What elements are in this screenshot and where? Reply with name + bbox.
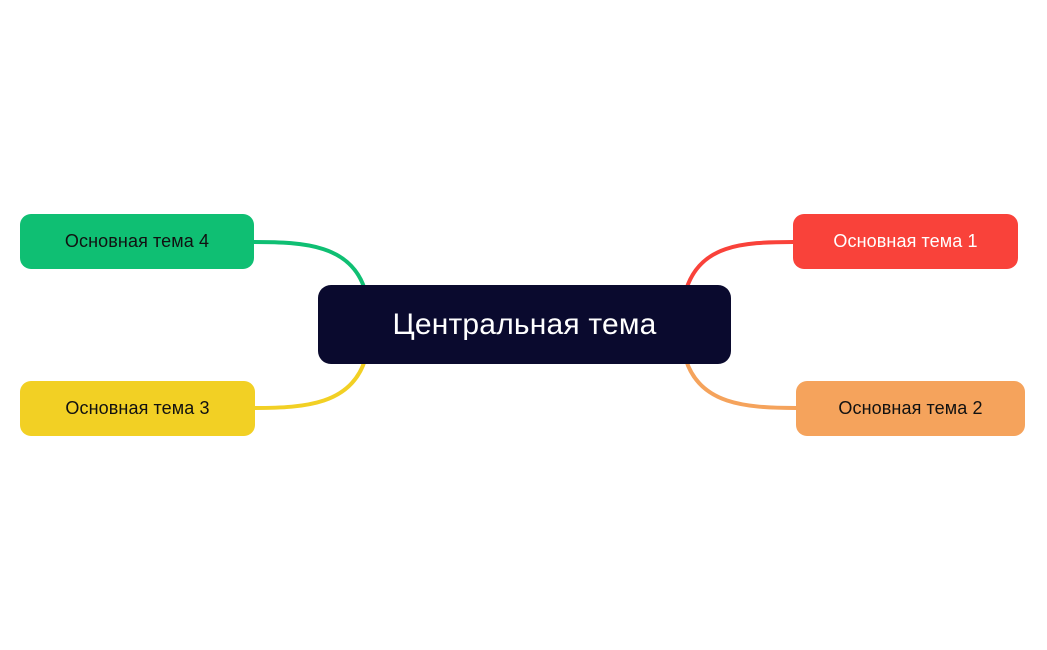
central-topic-node[interactable]: Центральная тема bbox=[318, 285, 731, 364]
branch-topic-label-1: Основная тема 1 bbox=[833, 232, 977, 252]
branch-topic-node-3[interactable]: Основная тема 3 bbox=[20, 381, 255, 436]
connector-branch-4 bbox=[254, 242, 365, 290]
branch-topic-node-2[interactable]: Основная тема 2 bbox=[796, 381, 1025, 436]
branch-topic-label-3: Основная тема 3 bbox=[65, 399, 209, 419]
central-topic-label: Центральная тема bbox=[392, 308, 656, 341]
connector-branch-2 bbox=[686, 360, 796, 408]
connector-branch-3 bbox=[255, 360, 365, 408]
mindmap-canvas: Центральная тема Основная тема 1 Основна… bbox=[0, 0, 1047, 650]
connector-branch-1 bbox=[686, 242, 793, 290]
branch-topic-node-4[interactable]: Основная тема 4 bbox=[20, 214, 254, 269]
branch-topic-label-2: Основная тема 2 bbox=[838, 399, 982, 419]
branch-topic-label-4: Основная тема 4 bbox=[65, 232, 209, 252]
branch-topic-node-1[interactable]: Основная тема 1 bbox=[793, 214, 1018, 269]
